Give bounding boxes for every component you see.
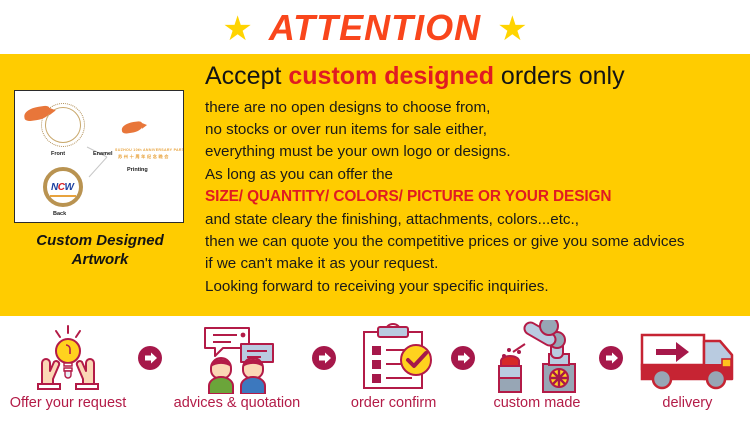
body-line: Looking forward to receiving your specif… [205,276,740,298]
process-step-advices-quotation: advices & quotation [174,322,301,412]
headline-after: orders only [494,62,625,90]
artwork-label-printing: Printing [127,167,148,173]
artwork-caption-line2: Artwork [14,251,186,270]
artwork-print-title: SUZHOU 10th ANNIVERSARY PARTY [115,148,184,152]
process-steps-footer: Offer your request [0,316,750,431]
process-step-label: delivery [662,396,712,412]
body-line: everything must be your own logo or desi… [205,141,740,163]
body-line-emphasis: SIZE/ QUANTITY/ COLORS/ PICTURE OR YOUR … [205,186,740,209]
process-step-label: advices & quotation [174,396,301,412]
artwork-print-subtitle: 苏州十周年纪念晚会 [118,154,170,160]
clipboard-check-icon [348,322,440,394]
body-line: no stocks or over run items for sale eit… [205,119,740,141]
artwork-caption-line1: Custom Designed [14,232,186,251]
yellow-banner: Front NCW Back Enamel SUZHOU 10th ANNIVE… [0,54,750,316]
body-line: As long as you can offer the [205,164,740,186]
headline-highlight: custom designed [288,62,494,90]
arrow-right-circle-icon [136,322,164,394]
artwork-caption: Custom Designed Artwork [14,232,186,270]
star-icon: ★ [222,12,252,46]
lightbulb-hands-icon [20,322,116,394]
process-step-label: custom made [493,396,580,412]
fish-logo-print-icon [121,121,143,134]
headline-before: Accept [205,62,288,90]
process-step-delivery: delivery [634,322,740,412]
artwork-card: Front NCW Back Enamel SUZHOU 10th ANNIVE… [14,90,186,270]
process-steps: Offer your request [0,316,750,412]
page-title: ATTENTION [269,10,481,46]
arrow-right-circle-icon [310,322,338,394]
body-line: if we can't make it as your request. [205,253,740,275]
arrow-right-circle-icon [449,322,477,394]
arrow-right-circle-icon [597,322,625,394]
artwork-image: Front NCW Back Enamel SUZHOU 10th ANNIVE… [14,90,184,223]
attention-banner-page: ★ ATTENTION ★ Front NCW Back Enamel [0,0,750,431]
robot-arm-icon [487,322,587,394]
artwork-label-enamel: Enamel [93,151,113,157]
process-step-custom-made: custom made [487,322,587,412]
body-line: there are no open designs to choose from… [205,97,740,119]
delivery-truck-icon [634,322,740,394]
people-chat-icon [187,322,287,394]
body-line: and state cleary the finishing, attachme… [205,209,740,231]
process-step-label: order confirm [351,396,436,412]
process-step-order-confirm: order confirm [348,322,440,412]
artwork-label-front: Front [51,151,65,157]
ncw-logo: NCW [51,182,73,193]
process-step-label: Offer your request [10,396,127,412]
header: ★ ATTENTION ★ [0,0,750,56]
process-step-offer-your-request: Offer your request [10,322,127,412]
banner-headline: Accept custom designed orders only [205,62,740,92]
artwork-label-back: Back [53,211,66,217]
banner-text-block: Accept custom designed orders only there… [205,62,740,298]
ncw-logo-bar [50,195,76,197]
back-badge-icon: NCW [43,167,83,207]
body-line: then we can quote you the competitive pr… [205,231,740,253]
star-icon: ★ [497,12,527,46]
